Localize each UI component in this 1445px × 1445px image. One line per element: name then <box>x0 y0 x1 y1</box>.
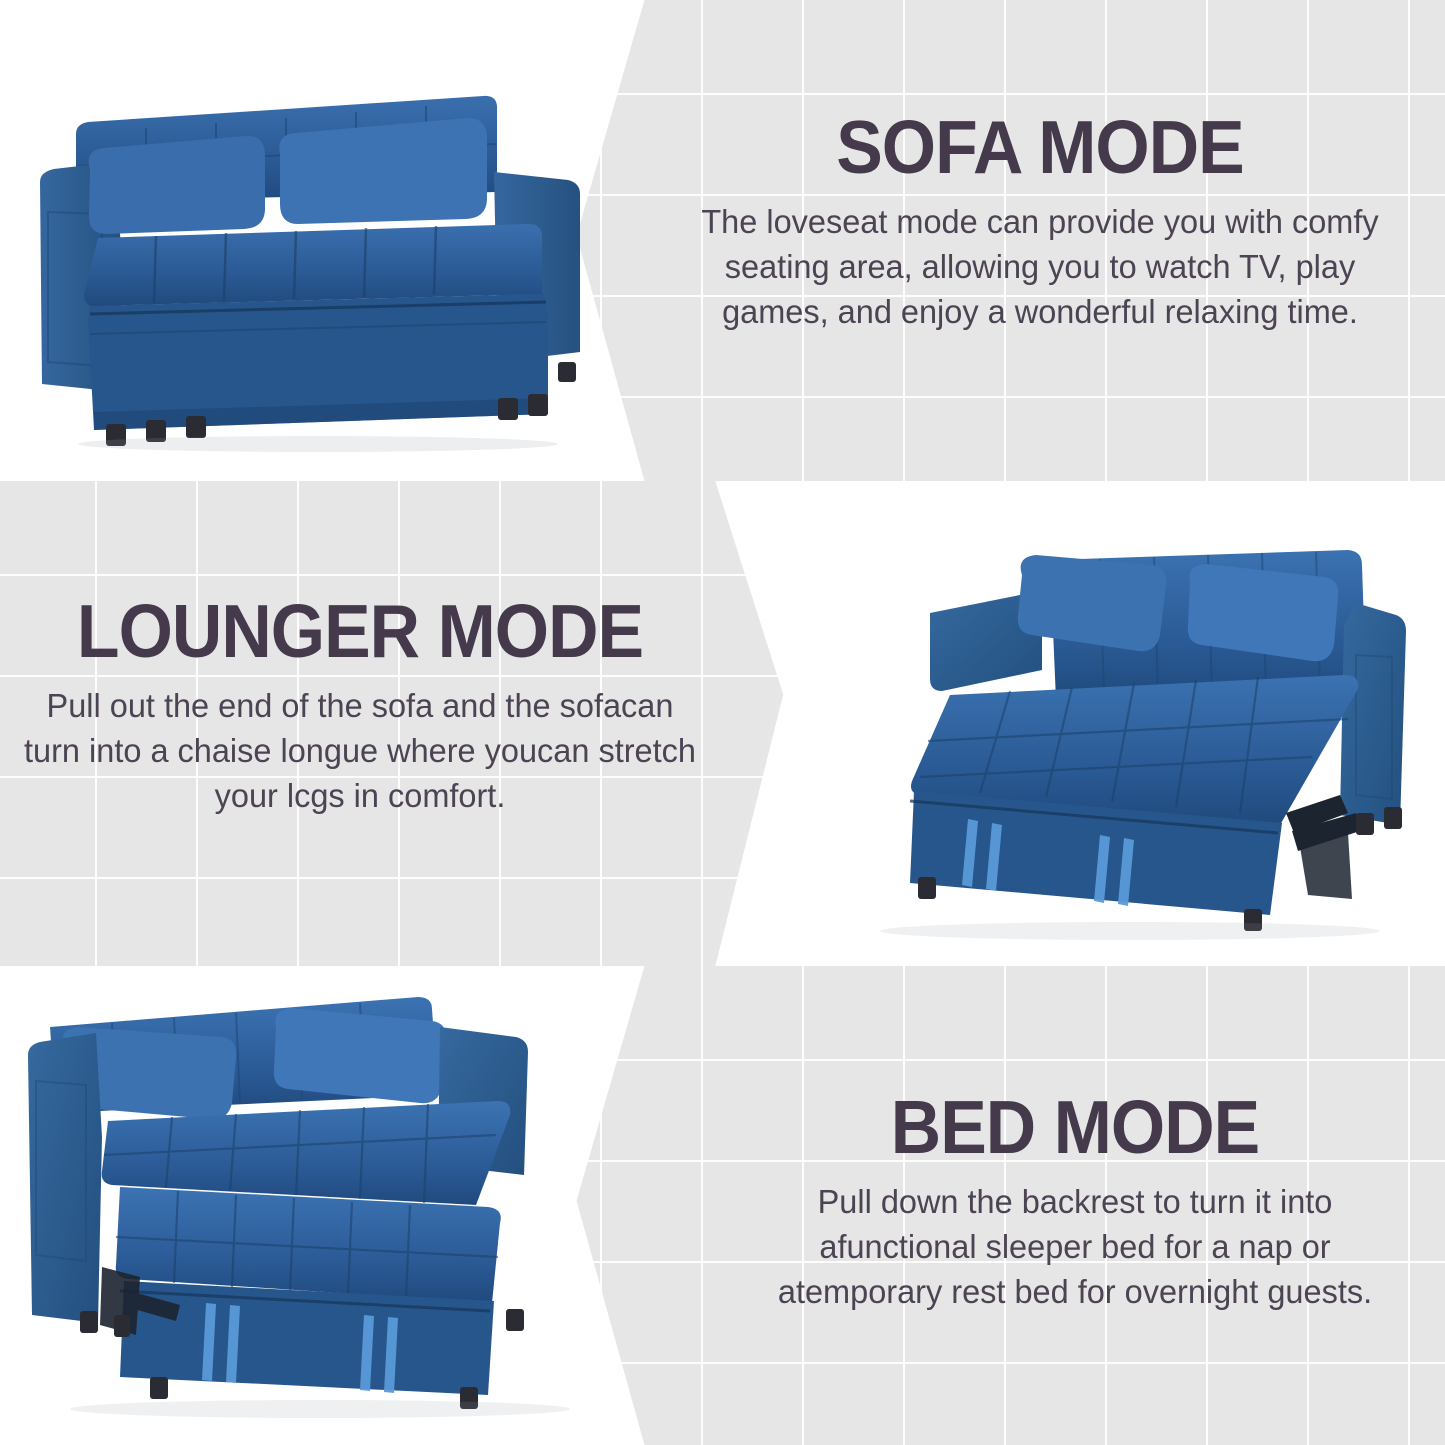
sofa-mode-product-image <box>28 62 608 452</box>
sofa-mode-description: The loveseat mode can provide you with c… <box>701 200 1380 335</box>
sofa-mode-text-block: SOFA MODE The loveseat mode can provide … <box>690 108 1390 335</box>
lounger-mode-text-block: LOUNGER MODE Pull out the end of the sof… <box>10 592 710 819</box>
lounger-mode-heading: LOUNGER MODE <box>35 592 686 670</box>
lounger-mode-description: Pull out the end of the sofa and the sof… <box>21 684 700 819</box>
lounger-mode-product-image <box>800 495 1415 960</box>
sofa-mode-heading: SOFA MODE <box>715 108 1366 186</box>
bed-mode-description: Pull down the backrest to turn it into a… <box>755 1180 1395 1315</box>
bed-mode-product-image <box>20 985 640 1435</box>
product-infographic-poster: SOFA MODE The loveseat mode can provide … <box>0 0 1445 1445</box>
bed-mode-heading: BED MODE <box>768 1088 1382 1166</box>
bed-mode-text-block: BED MODE Pull down the backrest to turn … <box>745 1088 1405 1315</box>
